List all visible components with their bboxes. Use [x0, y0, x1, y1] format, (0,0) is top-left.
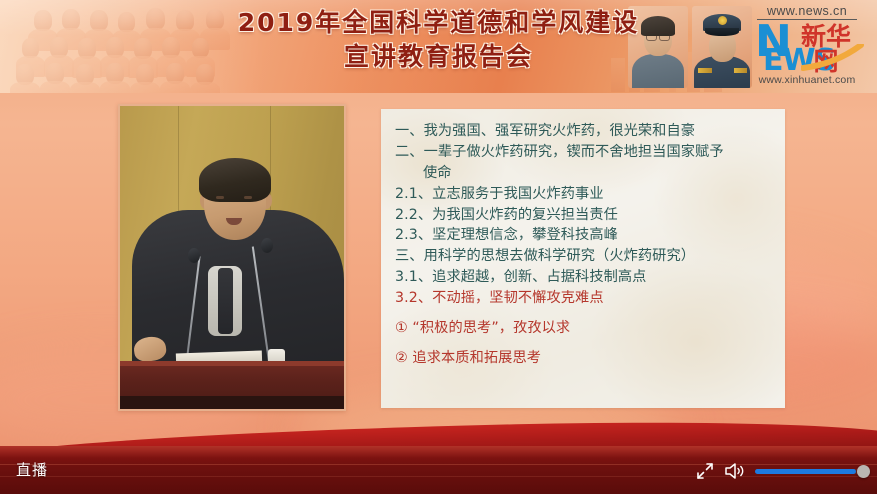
speaker-video-panel[interactable] [118, 104, 346, 411]
volume-slider-handle[interactable] [857, 465, 870, 478]
player-controls [695, 461, 865, 481]
slide-line: 使命 [395, 163, 779, 184]
live-badge: 直播 [16, 459, 48, 480]
slide-line: 2.2、为我国火炸药的复兴担当责任 [395, 205, 779, 226]
volume-slider-fill [755, 469, 856, 474]
speaker-icon[interactable] [723, 461, 747, 481]
podium [120, 361, 344, 409]
speaker-hair [199, 158, 271, 202]
slide-line: 一、我为强国、强军研究火炸药，很光荣和自豪 [395, 121, 779, 142]
slide-line: 2.1、立志服务于我国火炸药事业 [395, 184, 779, 205]
logo-mark: N EWS 新华网 [751, 20, 863, 74]
slide-text-content: 一、我为强国、强军研究火炸药，很光荣和自豪 二、一辈子做火炸药研究，锲而不舍地担… [395, 121, 779, 369]
expand-icon[interactable] [695, 461, 715, 481]
slide-line-highlight: ① “积极的思考”，孜孜以求 [395, 318, 779, 339]
logo-swoosh-icon [801, 44, 865, 72]
slide-line: 三、用科学的思想去做科学研究（火炸药研究） [395, 246, 779, 267]
slide-line-highlight: ② 追求本质和拓展思考 [395, 348, 779, 369]
slide-line: 3.1、追求超越，创新、占据科技制高点 [395, 267, 779, 288]
slide-line: 二、一辈子做火炸药研究，锲而不舍地担当国家赋予 [395, 142, 779, 163]
slide-line: 2.3、坚定理想信念，攀登科技高峰 [395, 225, 779, 246]
honoree-portrait-2 [692, 6, 752, 88]
slide-line-highlight: 3.2、不动摇，坚韧不懈攻克难点 [395, 288, 779, 309]
presentation-slide[interactable]: 一、我为强国、强军研究火炸药，很光荣和自豪 二、一辈子做火炸药研究，锲而不舍地担… [381, 109, 785, 408]
video-player-stage: 2019年全国科学道德和学风建设 宣讲教育报告会 www.news.cn N E… [0, 0, 877, 494]
speaker-tie [218, 268, 233, 334]
honoree-portrait-1 [628, 6, 688, 88]
volume-slider[interactable] [755, 469, 865, 474]
xinhua-logo[interactable]: www.news.cn N EWS 新华网 www.xinhuanet.com [751, 5, 863, 89]
event-banner: 2019年全国科学道德和学风建设 宣讲教育报告会 www.news.cn N E… [0, 0, 877, 93]
